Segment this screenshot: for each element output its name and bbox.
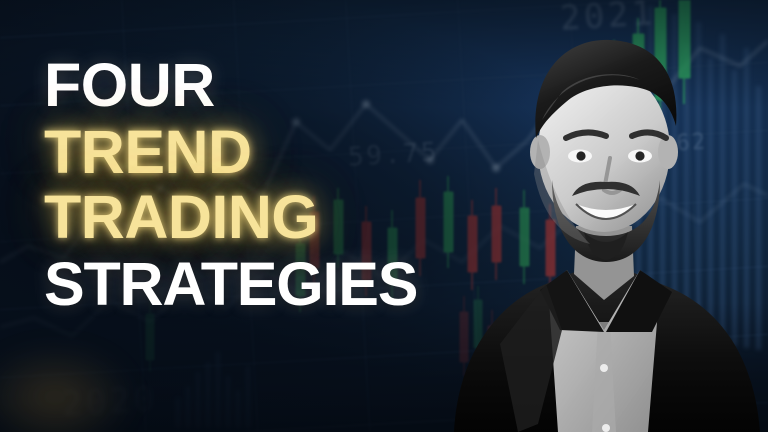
presenter-portrait <box>434 0 768 432</box>
headline-line-2: TREND <box>44 123 417 182</box>
headline-line-3: TRADING <box>44 188 417 247</box>
warm-glow-accent <box>0 322 170 432</box>
headline-line-1: FOUR <box>44 56 417 115</box>
headline-block: FOUR TREND TRADING STRATEGIES <box>44 56 417 313</box>
thumbnail-canvas: 2021 59.75 .62 2020 <box>0 0 768 432</box>
headline-line-4: STRATEGIES <box>44 255 417 314</box>
